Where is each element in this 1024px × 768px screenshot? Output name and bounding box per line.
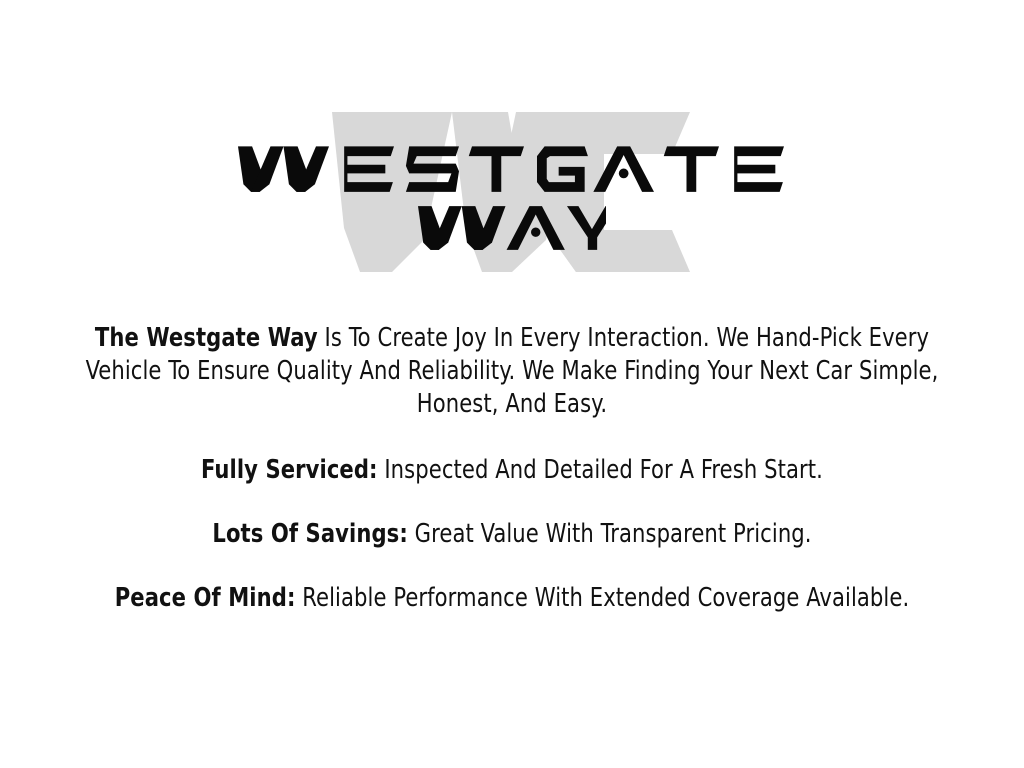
wordmark-westgate-icon: [238, 142, 785, 194]
benefit-lead: Fully Serviced:: [201, 455, 378, 485]
benefit-lead: Lots Of Savings:: [212, 519, 407, 549]
body-copy: The Westgate Way Is To Create Joy In Eve…: [0, 322, 1024, 615]
benefit-text: Reliable Performance With Extended Cover…: [295, 583, 909, 613]
benefit-lots-of-savings: Lots Of Savings: Great Value With Transp…: [61, 518, 963, 551]
spacer: [0, 551, 1024, 582]
intro-lead: The Westgate Way: [95, 323, 318, 353]
wordmark-way-icon: [418, 202, 606, 252]
brand-wordmark: [0, 100, 1024, 290]
spacer: [0, 421, 1024, 454]
benefit-peace-of-mind: Peace Of Mind: Reliable Performance With…: [61, 582, 963, 615]
benefit-fully-serviced: Fully Serviced: Inspected And Detailed F…: [61, 454, 963, 487]
brand-logo-block: [0, 100, 1024, 290]
benefit-text: Great Value With Transparent Pricing.: [408, 519, 812, 549]
spacer: [0, 487, 1024, 518]
benefit-lead: Peace Of Mind:: [115, 583, 296, 613]
slide-canvas: The Westgate Way Is To Create Joy In Eve…: [0, 0, 1024, 768]
intro-paragraph: The Westgate Way Is To Create Joy In Eve…: [75, 322, 949, 421]
benefit-text: Inspected And Detailed For A Fresh Start…: [378, 455, 823, 485]
